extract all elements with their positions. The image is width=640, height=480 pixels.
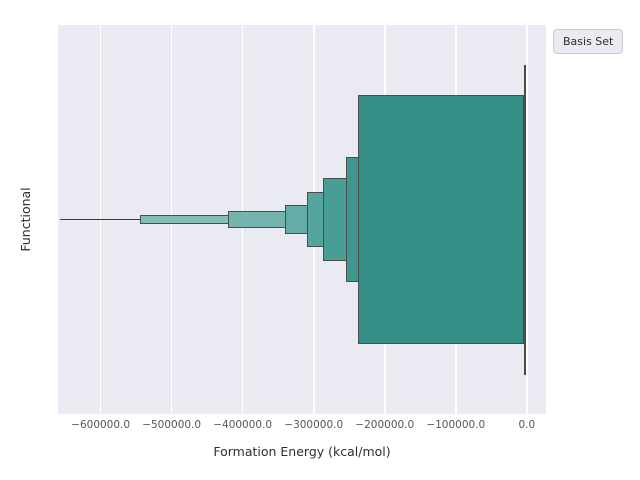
x-tick-label: 0.0 [518,419,535,431]
boxen-box [524,65,526,375]
plot-area [58,25,546,414]
grid-line-x [526,25,528,414]
x-tick-label: −400000.0 [213,419,272,431]
legend-title: Basis Set [563,35,613,48]
x-tick-label: −500000.0 [142,419,201,431]
x-tick-label: −100000.0 [426,419,485,431]
x-axis-tick-labels: −600000.0−500000.0−400000.0−300000.0−200… [0,419,640,435]
x-tick-label: −200000.0 [355,419,414,431]
x-tick-label: −600000.0 [71,419,130,431]
x-axis-label: Formation Energy (kcal/mol) [58,444,546,459]
chart-figure: −600000.0−500000.0−400000.0−300000.0−200… [0,0,640,480]
boxen-box [358,95,524,345]
x-tick-label: −300000.0 [284,419,343,431]
y-axis-label: Functional [18,25,36,414]
legend[interactable]: Basis Set [553,29,623,54]
